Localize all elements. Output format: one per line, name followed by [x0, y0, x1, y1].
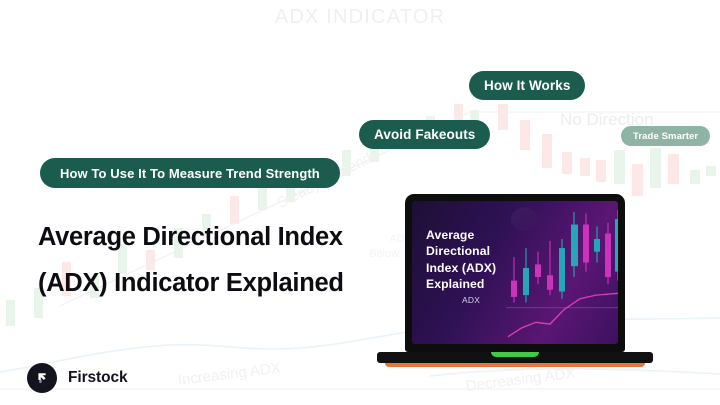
screen-headline-line-3: Index (ADX): [426, 260, 496, 276]
laptop-screen: Average Directional Index (ADX) Explaine…: [412, 201, 618, 344]
pill-how-it-works[interactable]: How It Works: [469, 71, 585, 100]
arrow-flag-icon: [34, 370, 50, 386]
pill-avoid-fakeouts[interactable]: Avoid Fakeouts: [359, 120, 490, 149]
poster-canvas: ADX INDICATOR No Direction Steady Uptren…: [0, 0, 720, 405]
screen-headline-line-1: Average: [426, 227, 496, 243]
screen-headline-line-4: Explained: [426, 276, 496, 292]
screen-candlestick-chart: [506, 201, 618, 344]
pill-trade-smarter[interactable]: Trade Smarter: [621, 126, 710, 146]
laptop-trackpad-notch: [491, 352, 539, 357]
watermark-title: ADX INDICATOR: [0, 6, 720, 29]
laptop-accent-strip: [385, 363, 645, 367]
screen-headline: Average Directional Index (ADX) Explaine…: [426, 227, 496, 293]
brand-name: Firstock: [68, 369, 128, 387]
pill-how-it-works-label: How It Works: [484, 78, 570, 93]
page-title-line-1: Average Directional Index: [38, 214, 344, 260]
screen-adx-label: ADX: [462, 295, 480, 305]
pill-trade-smarter-label: Trade Smarter: [633, 131, 698, 142]
brand-lockup: Firstock: [27, 363, 128, 393]
screen-headline-line-2: Directional: [426, 243, 496, 259]
laptop-mockup: Average Directional Index (ADX) Explaine…: [377, 194, 653, 371]
pill-measure-trend-strength-label: How To Use It To Measure Trend Strength: [60, 166, 320, 181]
page-title: Average Directional Index (ADX) Indicato…: [38, 214, 344, 306]
firstock-logo-icon: [27, 363, 57, 393]
page-title-line-2: (ADX) Indicator Explained: [38, 260, 344, 306]
pill-measure-trend-strength[interactable]: How To Use It To Measure Trend Strength: [40, 158, 340, 188]
laptop-lid: Average Directional Index (ADX) Explaine…: [405, 194, 625, 352]
watermark-increasing-adx: Increasing ADX: [177, 359, 282, 388]
pill-avoid-fakeouts-label: Avoid Fakeouts: [374, 127, 475, 142]
screen-adx-line: [508, 293, 618, 336]
